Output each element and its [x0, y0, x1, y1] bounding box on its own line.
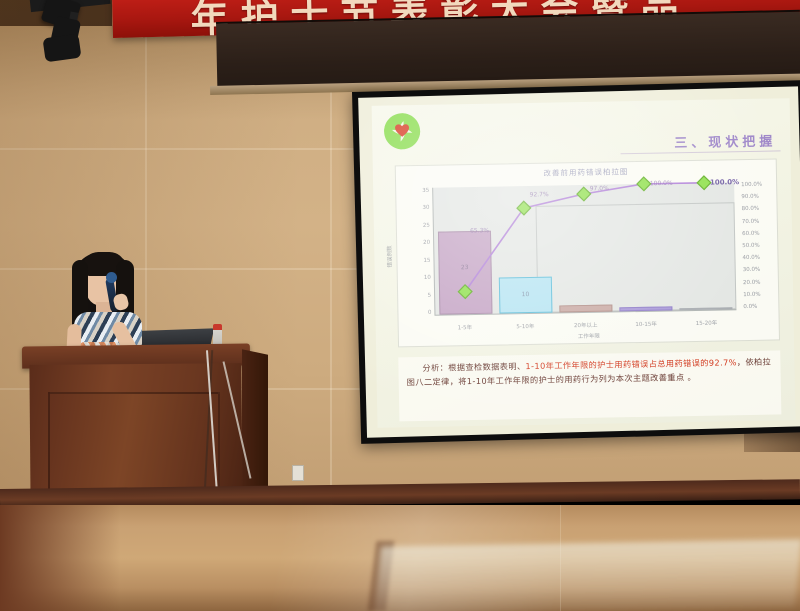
y-axis-right: 100.0% 90.0% 80.0% 70.0% 60.0% 50.0% 40.…	[738, 182, 774, 311]
y-tick-right: 0.0%	[743, 304, 757, 310]
y-tick-right: 10.0%	[743, 291, 761, 297]
microphone-head	[106, 272, 117, 283]
y-tick-right: 90.0%	[741, 194, 759, 200]
y-tick: 30	[422, 205, 429, 211]
green-leaf-heart-logo	[382, 111, 423, 152]
y-tick-right: 40.0%	[742, 255, 760, 261]
analysis-part1: 根据查检数据表明、	[448, 361, 525, 372]
presentation-slide: 三、现状把握 改善前用药错误柏拉图 35 30 25 20 15 10 5 0	[372, 98, 796, 428]
x-tick: 15-20年	[676, 318, 737, 327]
wall-switch-plate[interactable]	[292, 465, 304, 481]
cumulative-point-label: 100.0%	[710, 178, 739, 187]
heading-underline	[621, 150, 781, 154]
slide-section-heading: 三、现状把握	[674, 130, 776, 151]
y-tick-right: 100.0%	[741, 182, 762, 188]
podium-front-panel	[48, 392, 220, 500]
floor-shadow	[0, 505, 120, 611]
y-axis-label: 错误例数	[385, 246, 393, 268]
projection-screen-frame: 三、现状把握 改善前用药错误柏拉图 35 30 25 20 15 10 5 0	[352, 80, 800, 444]
x-tick: 1-5年	[435, 323, 496, 332]
y-tick-right: 70.0%	[742, 218, 760, 224]
cumulative-point-label: 65.3%	[470, 227, 489, 234]
cumulative-point-label: 97.0%	[590, 185, 609, 192]
y-tick-right: 30.0%	[743, 267, 761, 273]
y-tick-right: 20.0%	[743, 279, 761, 285]
podium-side	[242, 349, 268, 507]
y-tick: 20	[423, 240, 430, 246]
y-tick-right: 80.0%	[742, 206, 760, 212]
y-tick-right: 50.0%	[742, 243, 760, 249]
pareto-chart: 改善前用药错误柏拉图 35 30 25 20 15 10 5 0 错误例数	[395, 158, 780, 347]
y-tick: 35	[422, 188, 429, 194]
conference-hall-photo: 年护士节表彰大会暨品	[0, 0, 800, 611]
analysis-highlight: 1-10年工作年限的护士用药错误占总用药错误的92.7%	[525, 357, 737, 371]
y-axis-left: 35 30 25 20 15 10 5 0	[398, 188, 434, 317]
projection-screen-surface: 三、现状把握 改善前用药错误柏拉图 35 30 25 20 15 10 5 0	[358, 86, 800, 437]
screen-reflection	[374, 539, 800, 611]
y-tick: 25	[423, 223, 430, 229]
y-tick-right: 60.0%	[742, 231, 760, 237]
plot-area: 23 10	[432, 182, 736, 316]
cumulative-point-label: 100.0%	[650, 180, 673, 187]
y-tick: 15	[423, 257, 430, 263]
y-tick: 10	[424, 275, 431, 281]
y-tick: 0	[428, 310, 432, 316]
analysis-textbox: 分析：根据查检数据表明、1-10年工作年限的护士用药错误占总用药错误的92.7%…	[398, 350, 781, 421]
water-bottle-cap[interactable]	[213, 324, 222, 330]
x-tick: 10-15年	[616, 319, 677, 328]
cumulative-point-label: 92.7%	[530, 191, 549, 198]
analysis-lead: 分析：	[422, 362, 448, 372]
stage-spotlight	[43, 34, 82, 63]
x-tick: 5-10年	[495, 322, 556, 331]
x-tick: 20年以上	[555, 320, 616, 329]
y-tick: 5	[428, 292, 432, 298]
